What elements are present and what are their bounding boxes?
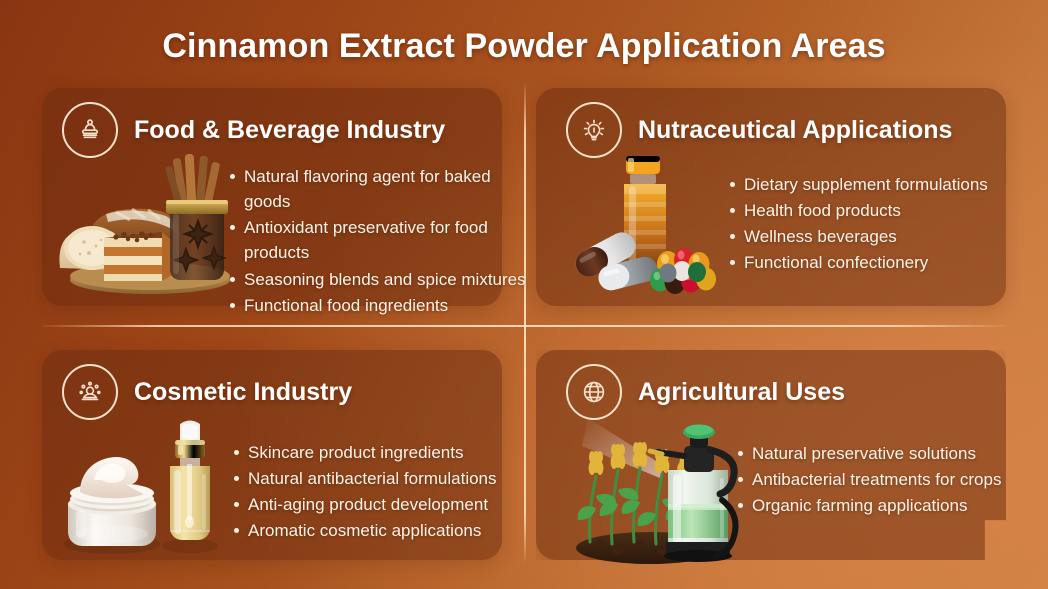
bullets-nutraceutical: Dietary supplement formulations Health f… <box>728 172 1018 277</box>
page-title: Cinnamon Extract Powder Application Area… <box>0 27 1048 66</box>
wheat-crops-pressure-sprayer-image <box>572 404 762 564</box>
bullet-item: Natural flavoring agent for baked goods <box>228 164 538 214</box>
card-title-agricultural: Agricultural Uses <box>638 378 845 407</box>
header-food-beverage: Food & Beverage Industry <box>62 102 445 158</box>
bullet-item: Antioxidant preservative for food produc… <box>228 215 538 265</box>
bullet-item: Anti-aging product development <box>232 492 512 517</box>
bullets-cosmetic: Skincare product ingredients Natural ant… <box>232 440 512 545</box>
bullet-item: Skincare product ingredients <box>232 440 512 465</box>
bullet-item: Organic farming applications <box>736 493 1016 518</box>
supplement-bottle-capsules-gummies-image <box>572 140 724 300</box>
bullet-item: Seasoning blends and spice mixtures <box>228 267 538 292</box>
spa-cream-sparkle-icon <box>62 364 118 420</box>
breads-cake-cinnamon-jar-image <box>58 152 234 298</box>
header-cosmetic: Cosmetic Industry <box>62 364 352 420</box>
bullets-food-beverage: Natural flavoring agent for baked goods … <box>228 164 538 319</box>
card-title-cosmetic: Cosmetic Industry <box>134 378 352 407</box>
bullet-item: Natural antibacterial formulations <box>232 466 512 491</box>
bullet-item: Natural preservative solutions <box>736 441 1016 466</box>
bullet-item: Aromatic cosmetic applications <box>232 518 512 543</box>
cake-burger-icon <box>62 102 118 158</box>
bullet-item: Health food products <box>728 198 1018 223</box>
bullets-agricultural: Natural preservative solutions Antibacte… <box>736 441 1016 519</box>
bullet-item: Dietary supplement formulations <box>728 172 1018 197</box>
card-title-food-beverage: Food & Beverage Industry <box>134 116 445 145</box>
bullet-item: Antibacterial treatments for crops <box>736 467 1016 492</box>
bullet-item: Wellness beverages <box>728 224 1018 249</box>
infographic-canvas: Cinnamon Extract Powder Application Area… <box>0 0 1048 589</box>
cream-jar-serum-dropper-image <box>60 418 230 558</box>
bullet-item: Functional food ingredients <box>228 293 538 318</box>
bullet-item: Functional confectionery <box>728 250 1018 275</box>
